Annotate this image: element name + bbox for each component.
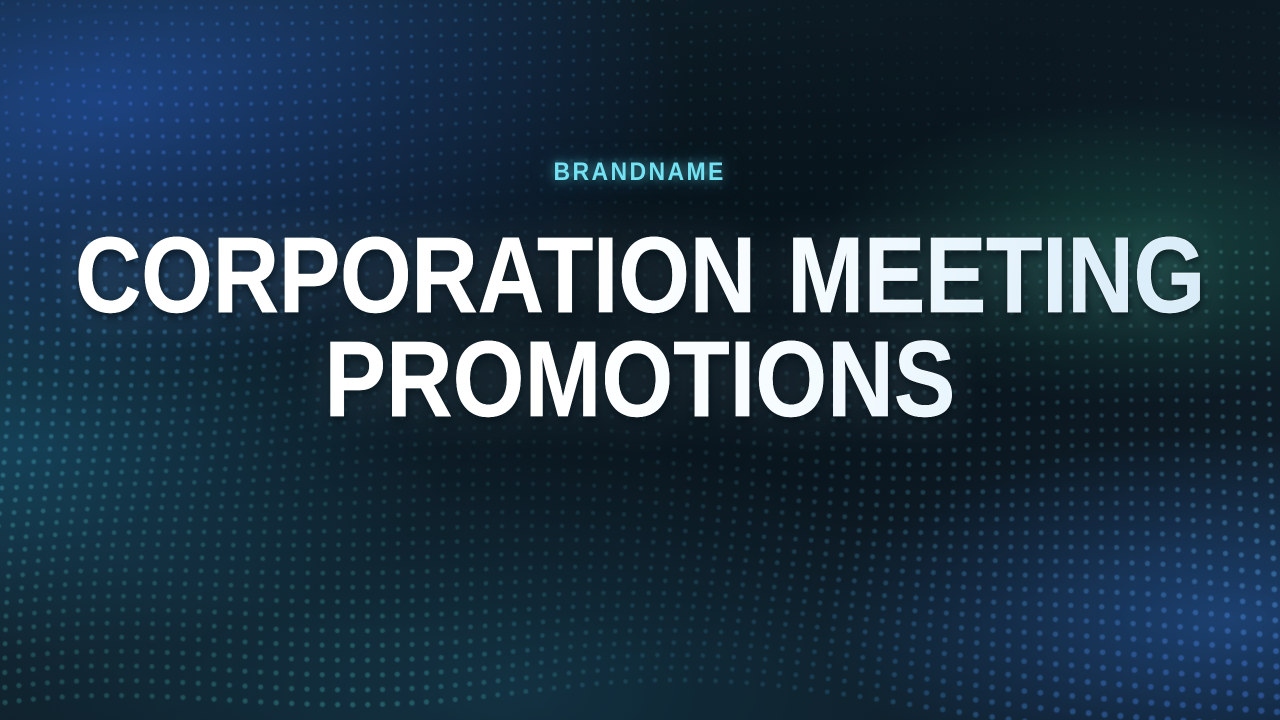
title-slide: BRANDNAME CORPORATIONMEETING PROMOTIONS	[0, 0, 1280, 720]
page-title: CORPORATIONMEETING PROMOTIONS	[0, 223, 1280, 430]
headline-line-1: CORPORATIONMEETING	[75, 223, 1205, 327]
headline-line-2: PROMOTIONS	[75, 327, 1205, 431]
slide-content: BRANDNAME CORPORATIONMEETING PROMOTIONS	[0, 0, 1280, 720]
brand-name: BRANDNAME	[554, 160, 726, 185]
